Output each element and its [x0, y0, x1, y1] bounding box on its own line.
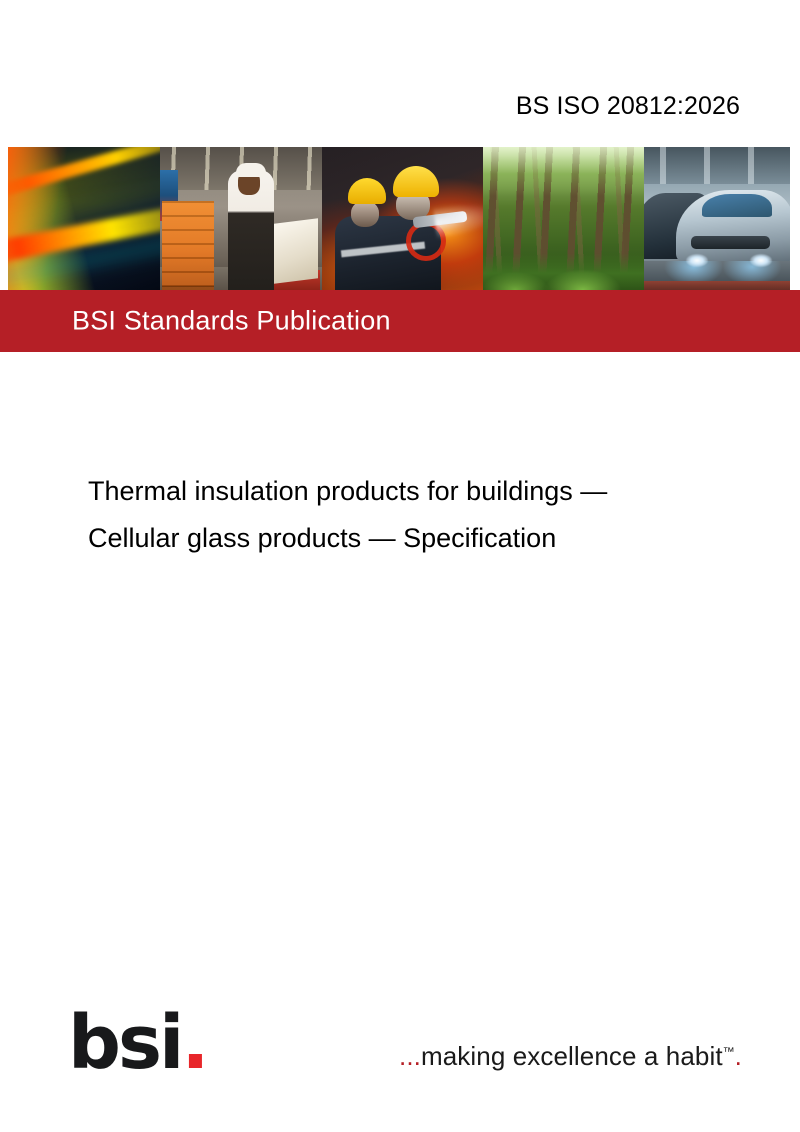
trademark-icon: ™ [723, 1044, 735, 1058]
assembly-floor-red-strip [644, 281, 790, 290]
firefighter-water-spray [433, 200, 483, 239]
factory-ceiling-lights [644, 147, 790, 184]
warehouse-crates [162, 201, 214, 290]
tagline-end-dot: . [735, 1041, 742, 1071]
bsi-tagline: ...making excellence a habit™. [399, 1041, 742, 1072]
firefighter-front-helmet [393, 166, 439, 197]
title-line-1: Thermal insulation products for building… [88, 468, 748, 515]
forest-undergrowth [483, 253, 644, 290]
banner-label: BSI Standards Publication [72, 306, 391, 337]
warehouse-box [274, 219, 318, 284]
car-grille [691, 236, 770, 249]
warehouse-worker-cap [236, 163, 266, 177]
warehouse-worker-photo [160, 147, 322, 290]
car-windshield [702, 194, 772, 217]
firefighter-rear-helmet [348, 178, 386, 204]
forest-photo [483, 147, 644, 290]
page-title: Thermal insulation products for building… [88, 468, 748, 562]
bsi-standards-banner: BSI Standards Publication [0, 290, 800, 352]
forest-canopy-light [483, 147, 644, 196]
light-trails-photo [8, 147, 160, 290]
tagline-text: making excellence a habit [421, 1041, 723, 1071]
automotive-assembly-photo [644, 147, 790, 290]
bsi-logo-wordmark: bsi [68, 1000, 181, 1086]
title-line-2: Cellular glass products — Specification [88, 515, 748, 562]
bsi-logo: bsi. [68, 1006, 207, 1080]
standard-number: BS ISO 20812:2026 [516, 92, 740, 121]
firefighter-rear-face [351, 201, 379, 227]
tagline-lead-dots: ... [399, 1041, 421, 1071]
cover-image-strip [8, 147, 790, 290]
bsi-logo-dot: . [181, 1000, 206, 1086]
firefighters-photo [322, 147, 483, 290]
